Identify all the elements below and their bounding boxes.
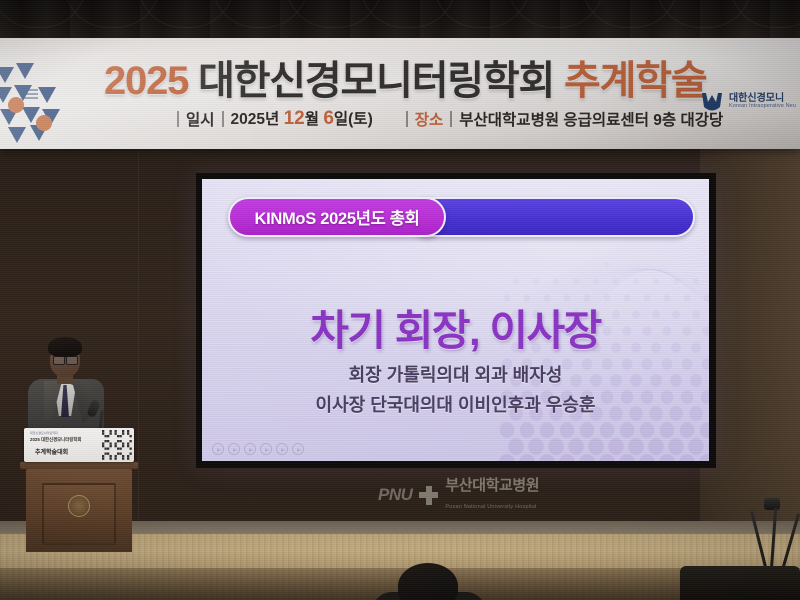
divider-bar-icon <box>450 111 452 127</box>
wall-seam <box>138 147 139 527</box>
menu-icon[interactable] <box>260 443 272 455</box>
pointer-icon[interactable] <box>228 443 240 455</box>
podium-emblem-icon <box>68 495 90 517</box>
banner-venue-label: 장소 <box>415 108 444 130</box>
conference-photo-scene: 2025 대한신경모니터링학회 추계학술 일시 2025년 12월 6일(토) … <box>0 0 800 600</box>
speaker-hair <box>48 337 82 357</box>
medical-cross-icon <box>419 486 438 505</box>
podium-sign: 대한신경모니터링학회 2025 대한신경모니터링학회 추계학술대회 <box>24 428 134 462</box>
banner-date-year: 2025년 <box>231 107 280 129</box>
glasses-icon <box>53 356 78 363</box>
podium: 대한신경모니터링학회 2025 대한신경모니터링학회 추계학술대회 <box>20 462 138 552</box>
banner-title-event: 추계학술 <box>564 59 706 103</box>
banner-date-day-unit: 일(토) <box>334 107 373 129</box>
qr-pattern-icon <box>102 430 132 460</box>
banner-decoration-icon <box>0 53 92 147</box>
prev-slide-icon[interactable] <box>212 443 224 455</box>
curtain-swags <box>0 0 800 38</box>
divider-bar-icon <box>406 111 408 127</box>
podium-body <box>26 469 132 552</box>
play-icon[interactable] <box>276 443 288 455</box>
projection-screen-frame: KINMoS 2025년도 총회 차기 회장, 이사장 회장 가톨릭의대 외과 … <box>196 173 716 468</box>
banner-venue-value: 부산대학교병원 응급의료센터 9층 대강당 <box>459 108 723 130</box>
banner-title-society: 대한신경모니터링학회 <box>198 59 554 103</box>
divider-bar-icon <box>177 111 179 127</box>
hospital-logo-en: Pusan National University Hospital <box>445 504 536 510</box>
podium-sign-line-2: 추계학술대회 <box>35 447 68 456</box>
banner-date-value: 2025년 12월 6일(토) <box>231 107 373 130</box>
banner-title: 2025 대한신경모니터링학회 추계학술 <box>104 48 800 106</box>
banner-date-month-unit: 월 <box>305 107 319 129</box>
banner-date-day: 6 <box>323 108 334 130</box>
slide-header: KINMoS 2025년도 총회 <box>228 197 695 237</box>
slide-title: 차기 회장, 이사장 <box>202 297 709 358</box>
hospital-logo-word: PNU <box>378 485 412 505</box>
slide-line-1: 회장 가톨릭의대 외과 배자성 <box>202 361 709 387</box>
podium-sign-line-0: 대한신경모니터링학회 <box>30 431 58 435</box>
hospital-logo-text: 부산대학교병원 Pusan National University Hospit… <box>445 477 539 513</box>
stage-curtain <box>0 0 800 38</box>
presentation-controls[interactable] <box>212 443 304 455</box>
slide-line-2: 이사장 단국대의대 이비인후과 우승훈 <box>202 391 709 417</box>
hospital-logo: PNU 부산대학교병원 Pusan National University Ho… <box>378 477 539 513</box>
society-logo-mark-icon <box>699 89 725 115</box>
society-logo-en: Korean Intraoperative Neu <box>729 104 796 110</box>
banner-date-month: 12 <box>284 108 305 130</box>
tripod-head <box>764 498 780 510</box>
banner-title-year: 2025 <box>104 59 188 103</box>
banner-date-label: 일시 <box>186 108 215 130</box>
slide-header-bar <box>408 197 695 237</box>
event-banner: 2025 대한신경모니터링학회 추계학술 일시 2025년 12월 6일(토) … <box>0 31 800 149</box>
next-slide-icon[interactable] <box>292 443 304 455</box>
pen-icon[interactable] <box>244 443 256 455</box>
slide-header-pill-label: KINMoS 2025년도 총회 <box>254 205 419 229</box>
audience-silhouette <box>680 566 800 600</box>
hospital-logo-kr: 부산대학교병원 <box>445 477 539 494</box>
society-logo-text: 대한신경모니 Korean Intraoperative Neu <box>729 94 796 110</box>
divider-bar-icon <box>222 111 224 127</box>
podium-top <box>20 462 138 469</box>
society-logo: 대한신경모니 Korean Intraoperative Neu <box>699 89 796 115</box>
microphone-head-icon <box>86 399 101 418</box>
projected-slide: KINMoS 2025년도 총회 차기 회장, 이사장 회장 가톨릭의대 외과 … <box>202 179 709 461</box>
slide-header-pill: KINMoS 2025년도 총회 <box>228 197 446 237</box>
podium-sign-line-1: 2025 대한신경모니터링학회 <box>30 437 81 443</box>
